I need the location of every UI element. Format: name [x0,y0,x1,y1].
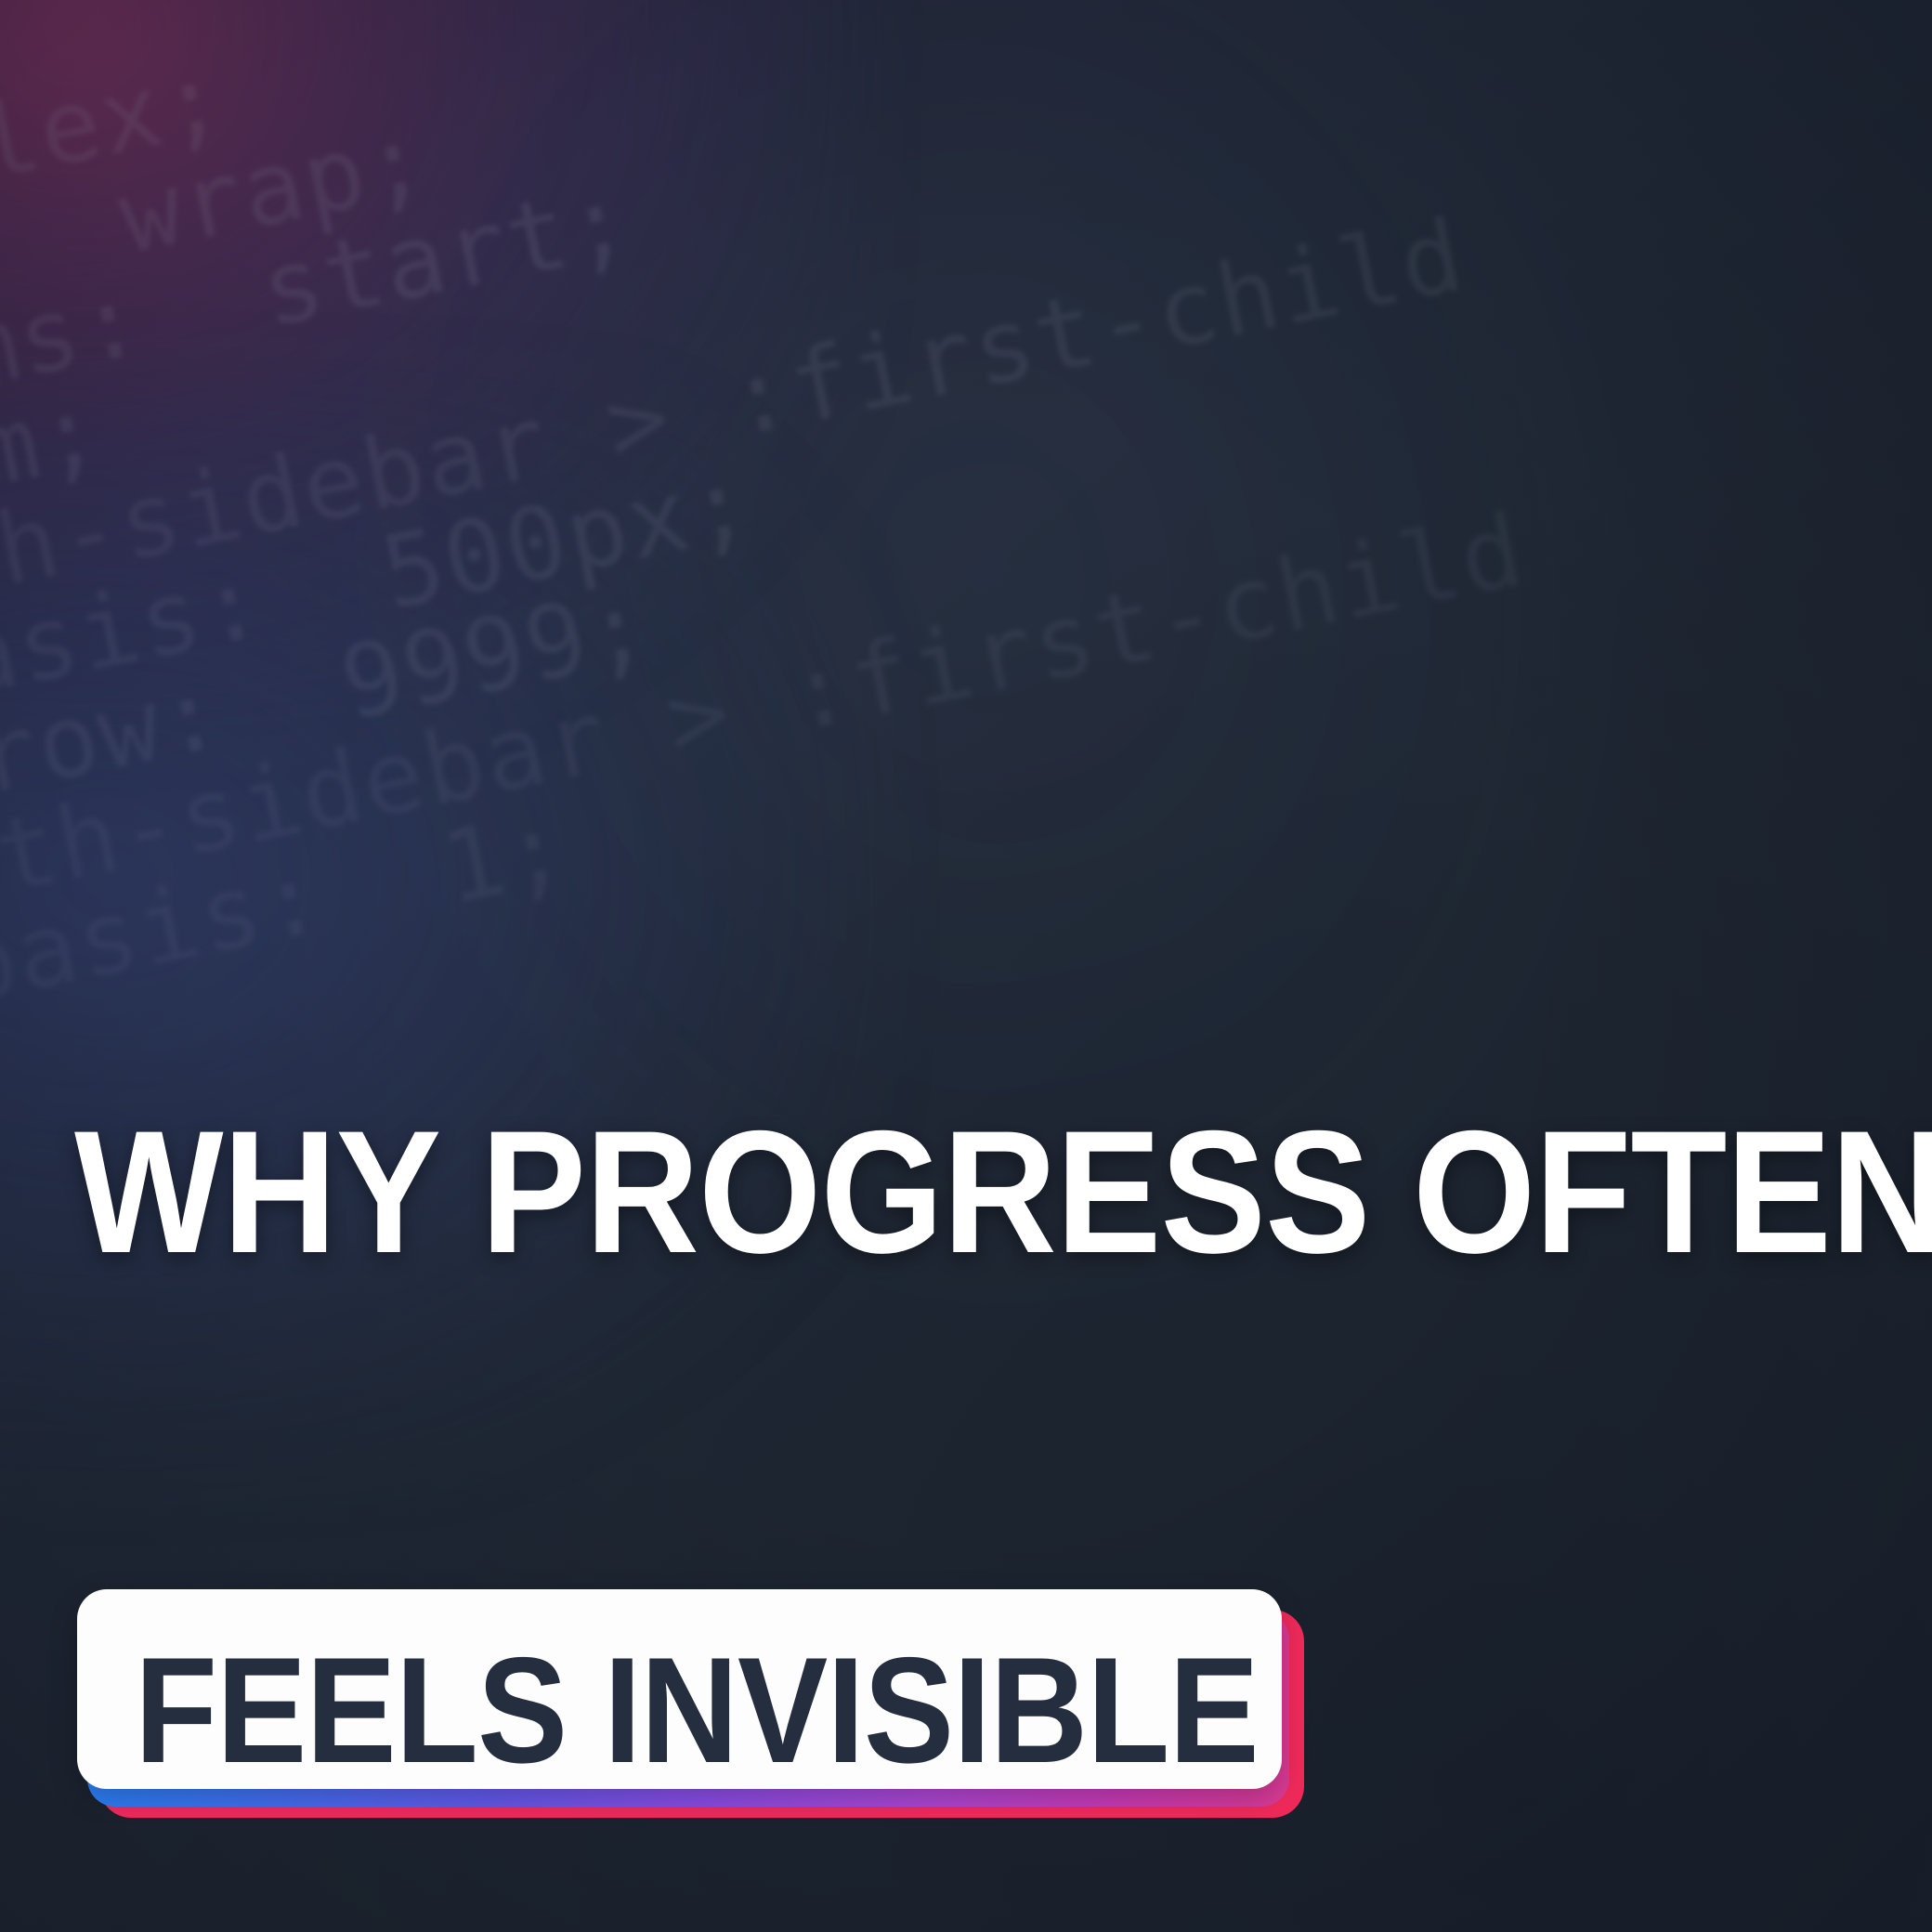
headline-block: WHY PROGRESS OFTEN [0,1107,1932,1276]
poster-canvas: w: play: flex; ex-wrap: wrap; ign-items:… [0,0,1932,1932]
headline-line-2: FEELS INVISIBLE [135,1636,1259,1786]
headline-line-1: WHY PROGRESS OFTEN [74,1107,1756,1276]
highlighted-title-group: FEELS INVISIBLE [77,1589,1285,1808]
